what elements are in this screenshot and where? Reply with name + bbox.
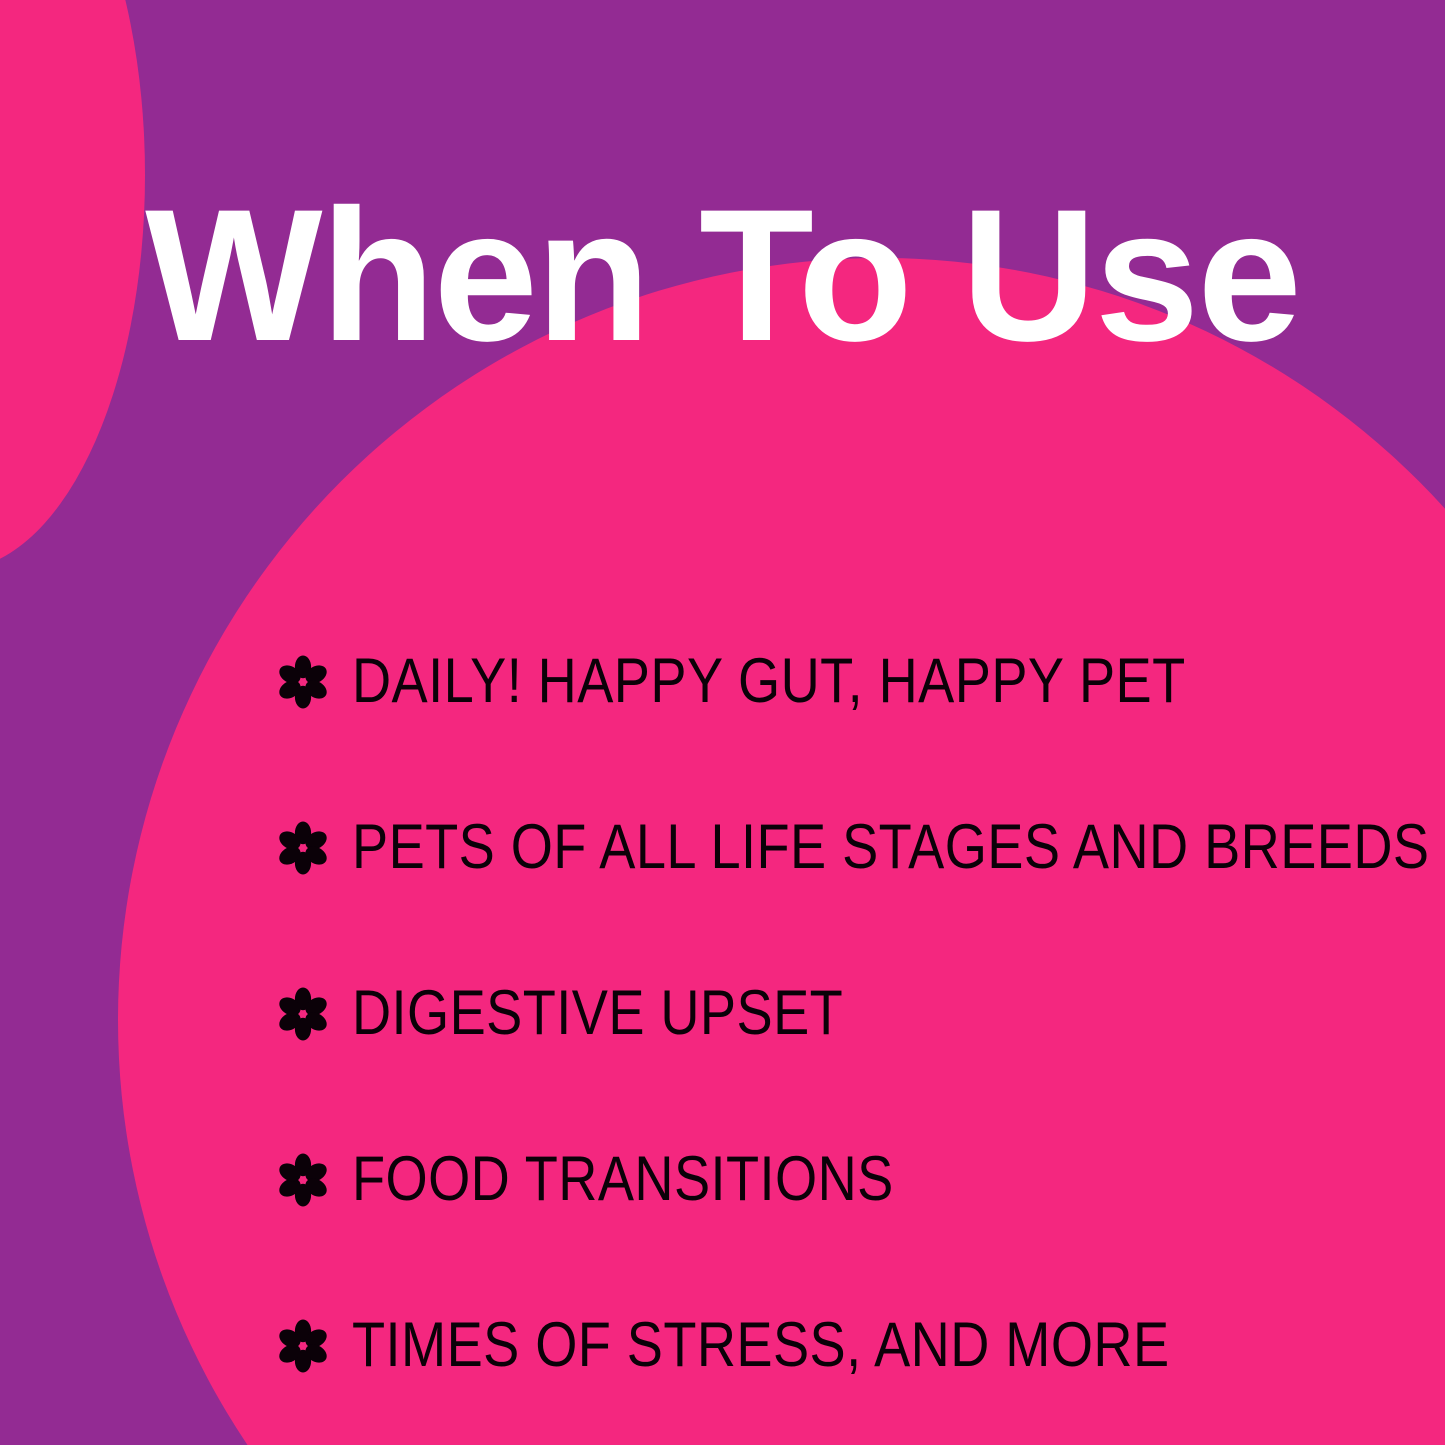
when-to-use-poster: When To Use DAILY! HAPPY GUT, HAPPY PET bbox=[0, 0, 1445, 1445]
list-item-label: TIMES OF STRESS, AND MORE bbox=[352, 1314, 1170, 1377]
flower-asterisk-icon bbox=[276, 987, 330, 1041]
list-item-label: DIGESTIVE UPSET bbox=[352, 982, 843, 1045]
list-item-label: PETS OF ALL LIFE STAGES AND BREEDS bbox=[352, 816, 1429, 879]
list-item: DAILY! HAPPY GUT, HAPPY PET bbox=[276, 634, 1416, 729]
list-item-label: DAILY! HAPPY GUT, HAPPY PET bbox=[352, 650, 1186, 713]
flower-asterisk-icon bbox=[276, 1153, 330, 1207]
flower-asterisk-icon bbox=[276, 655, 330, 709]
list-item-label: FOOD TRANSITIONS bbox=[352, 1148, 894, 1211]
list-item: FOOD TRANSITIONS bbox=[276, 1132, 1416, 1227]
when-to-use-list: DAILY! HAPPY GUT, HAPPY PET PETS OF ALL … bbox=[276, 634, 1416, 1393]
list-item: DIGESTIVE UPSET bbox=[276, 966, 1416, 1061]
flower-asterisk-icon bbox=[276, 1319, 330, 1373]
list-item: PETS OF ALL LIFE STAGES AND BREEDS bbox=[276, 800, 1416, 895]
list-item: TIMES OF STRESS, AND MORE bbox=[276, 1298, 1416, 1393]
page-title: When To Use bbox=[0, 178, 1445, 374]
flower-asterisk-icon bbox=[276, 821, 330, 875]
